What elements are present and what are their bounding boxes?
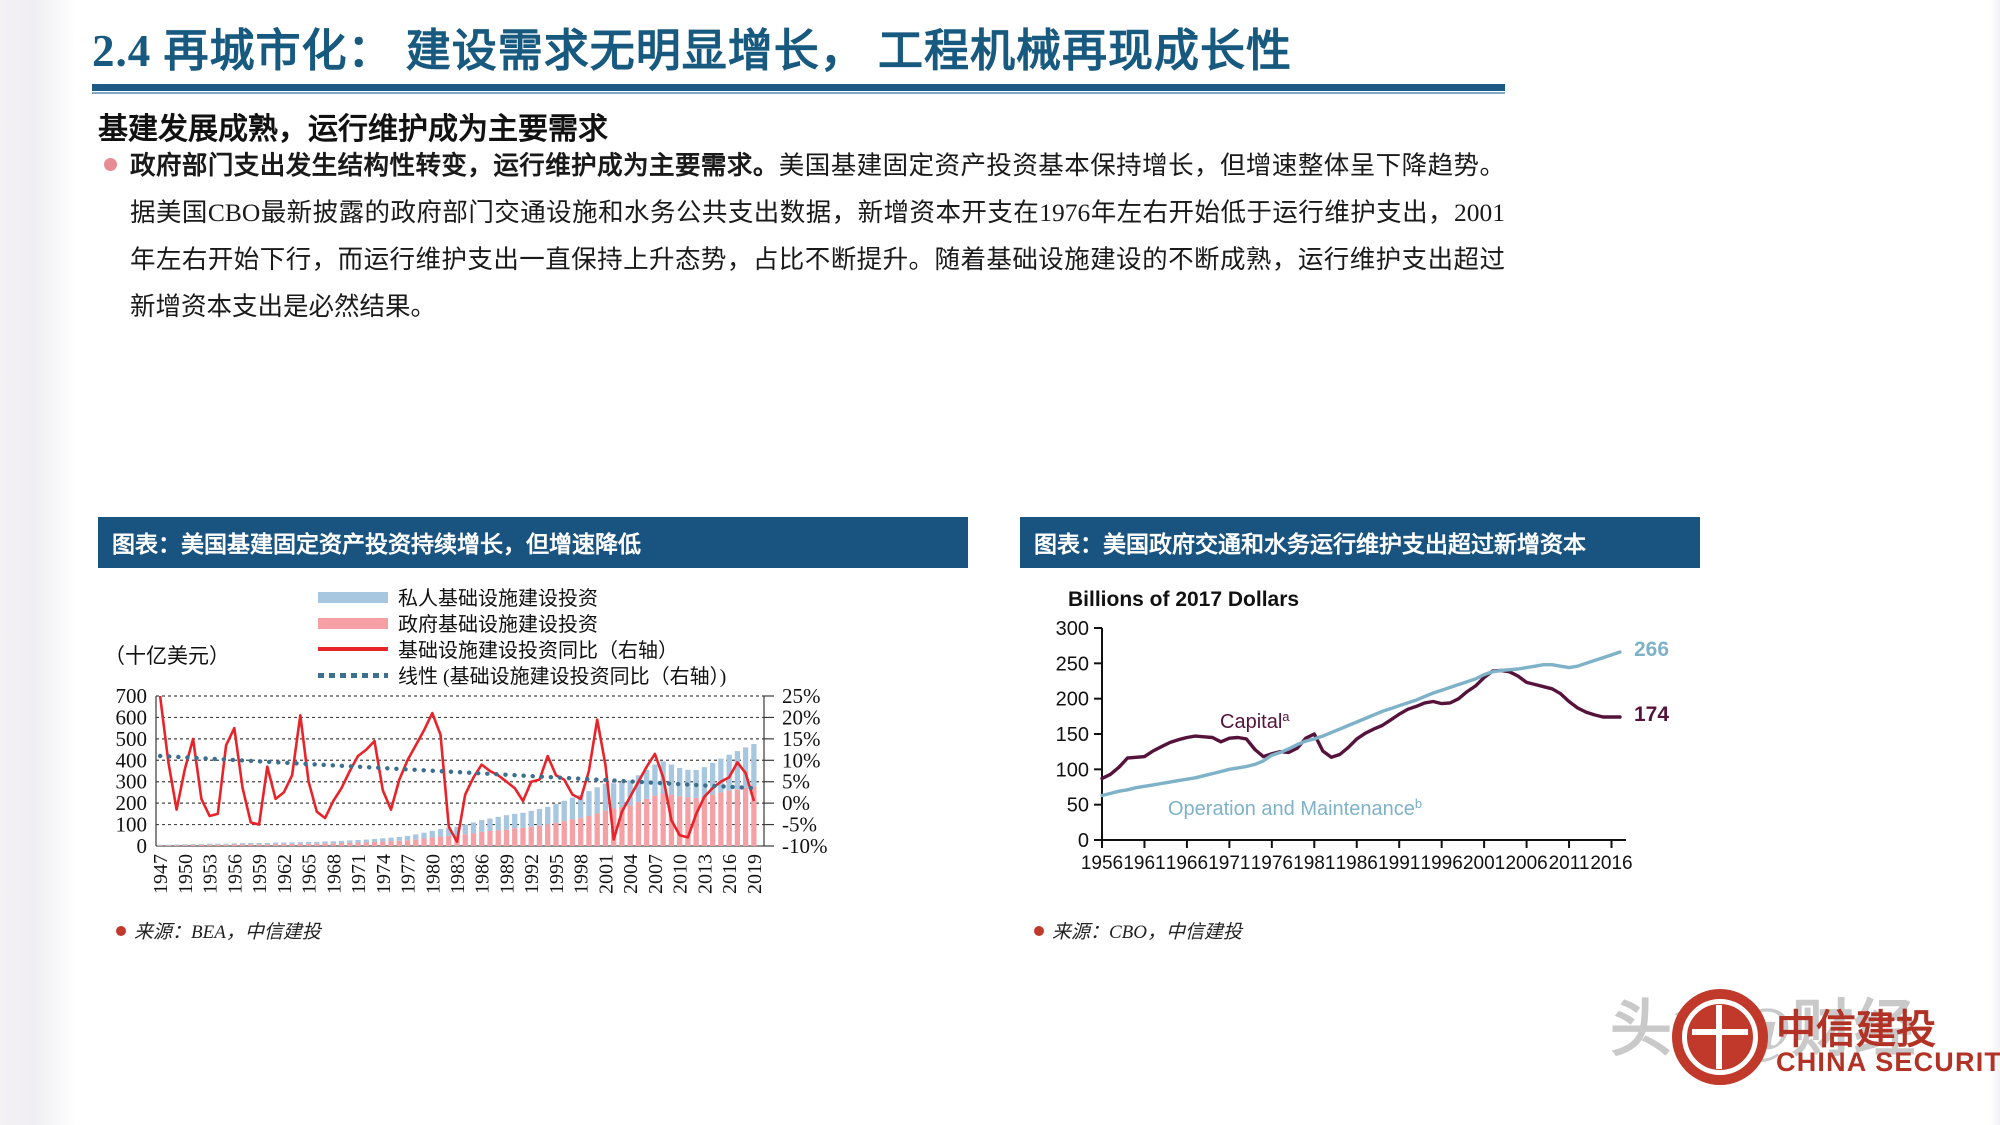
svg-text:2006: 2006 xyxy=(1505,853,1547,874)
svg-text:1977: 1977 xyxy=(398,854,420,894)
svg-text:2016: 2016 xyxy=(719,854,741,894)
svg-text:1991: 1991 xyxy=(1378,853,1420,874)
brand-logo: 中信建投 CHINA SECURITIES xyxy=(1672,985,1992,1105)
svg-text:1983: 1983 xyxy=(447,854,469,894)
right-chart-source: 来源：CBO，中信建投 xyxy=(1034,917,1242,944)
svg-text:1971: 1971 xyxy=(1208,853,1250,874)
body-paragraph: 政府部门支出发生结构性转变，运行维护成为主要需求。美国基建固定资产投资基本保持增… xyxy=(130,142,1505,330)
svg-text:400: 400 xyxy=(116,748,148,772)
svg-text:150: 150 xyxy=(1056,724,1089,746)
svg-text:1961: 1961 xyxy=(1123,853,1165,874)
svg-text:266: 266 xyxy=(1634,638,1669,661)
svg-text:1986: 1986 xyxy=(472,854,494,894)
svg-text:2001: 2001 xyxy=(595,854,617,894)
svg-text:300: 300 xyxy=(1056,618,1089,640)
svg-text:1992: 1992 xyxy=(521,854,543,894)
title-underline xyxy=(92,84,1505,91)
svg-text:15%: 15% xyxy=(782,727,821,751)
svg-text:2016: 2016 xyxy=(1590,853,1632,874)
svg-text:-10%: -10% xyxy=(782,834,828,858)
svg-text:1959: 1959 xyxy=(249,854,271,894)
page-right-edge-gradient xyxy=(1990,0,2000,1125)
left-chart-source: 来源：BEA，中信建投 xyxy=(116,917,321,944)
source-bullet-icon xyxy=(1034,926,1044,936)
svg-text:200: 200 xyxy=(116,791,148,815)
svg-text:1956: 1956 xyxy=(224,854,246,894)
svg-text:Capitala: Capitala xyxy=(1220,709,1290,734)
svg-text:1971: 1971 xyxy=(348,854,370,894)
svg-text:0%: 0% xyxy=(782,791,810,815)
svg-text:300: 300 xyxy=(116,770,148,794)
page-title: 2.4 再城市化： 建设需求无明显增长， 工程机械再现成长性 xyxy=(92,14,1512,76)
svg-text:1980: 1980 xyxy=(422,854,444,894)
left-chart-panel: 图表：美国基建固定资产投资持续增长，但增速降低 （十亿美元） 私人基础设施建设投… xyxy=(98,517,968,898)
svg-text:1998: 1998 xyxy=(571,854,593,894)
logo-english-name: CHINA SECURITIES xyxy=(1776,1047,2000,1078)
paragraph-bold-lead: 政府部门支出发生结构性转变，运行维护成为主要需求。 xyxy=(130,151,779,180)
svg-text:174: 174 xyxy=(1634,703,1669,726)
svg-text:2013: 2013 xyxy=(694,854,716,894)
svg-text:2010: 2010 xyxy=(670,854,692,894)
logo-vertical-bar-icon xyxy=(1716,1005,1722,1069)
svg-text:1989: 1989 xyxy=(497,854,519,894)
left-chart-svg: 0100200300400500600700-10%-5%0%5%10%15%2… xyxy=(98,568,968,898)
svg-text:2001: 2001 xyxy=(1463,853,1505,874)
svg-text:1956: 1956 xyxy=(1081,853,1123,874)
svg-text:1995: 1995 xyxy=(546,854,568,894)
svg-text:20%: 20% xyxy=(782,705,821,729)
page-left-edge-gradient xyxy=(0,0,76,1125)
svg-text:1981: 1981 xyxy=(1293,853,1335,874)
right-chart-header: 图表：美国政府交通和水务运行维护支出超过新增资本 xyxy=(1020,517,1700,568)
svg-text:1968: 1968 xyxy=(323,854,345,894)
svg-text:1953: 1953 xyxy=(200,854,222,894)
svg-text:200: 200 xyxy=(1056,689,1089,711)
svg-text:10%: 10% xyxy=(782,748,821,772)
svg-text:700: 700 xyxy=(116,684,148,708)
svg-text:100: 100 xyxy=(1056,759,1089,781)
title-underline-thin xyxy=(92,92,1505,94)
svg-text:1950: 1950 xyxy=(175,854,197,894)
svg-text:-5%: -5% xyxy=(782,813,817,837)
svg-text:250: 250 xyxy=(1056,653,1089,675)
svg-text:1962: 1962 xyxy=(274,854,296,894)
svg-text:1966: 1966 xyxy=(1166,853,1208,874)
bullet-point-marker xyxy=(104,158,117,171)
right-chart-body: Billions of 2017 Dollars 050100150200250… xyxy=(1020,568,1700,898)
svg-text:25%: 25% xyxy=(782,684,821,708)
svg-text:2004: 2004 xyxy=(620,854,642,894)
left-chart-body: （十亿美元） 私人基础设施建设投资 政府基础设施建设投资 基础设施建设投资同比（… xyxy=(98,568,968,898)
left-chart-source-text: 来源：BEA，中信建投 xyxy=(134,922,321,943)
svg-text:2019: 2019 xyxy=(744,854,766,894)
svg-text:2007: 2007 xyxy=(645,854,667,894)
svg-text:600: 600 xyxy=(116,705,148,729)
right-chart-source-text: 来源：CBO，中信建投 xyxy=(1052,922,1242,943)
svg-text:1976: 1976 xyxy=(1251,853,1293,874)
svg-text:50: 50 xyxy=(1067,795,1089,817)
source-bullet-icon xyxy=(116,926,126,936)
svg-text:1947: 1947 xyxy=(150,854,172,894)
svg-text:100: 100 xyxy=(116,813,148,837)
svg-text:2011: 2011 xyxy=(1549,853,1590,874)
left-chart-header: 图表：美国基建固定资产投资持续增长，但增速降低 xyxy=(98,517,968,568)
right-chart-panel: 图表：美国政府交通和水务运行维护支出超过新增资本 Billions of 201… xyxy=(1020,517,1700,898)
svg-text:Operation and Maintenanceb: Operation and Maintenanceb xyxy=(1168,796,1422,821)
svg-text:1974: 1974 xyxy=(373,854,395,894)
svg-text:1996: 1996 xyxy=(1421,853,1463,874)
svg-text:5%: 5% xyxy=(782,770,810,794)
right-chart-svg: 0501001502002503001956196119661971197619… xyxy=(1020,568,1700,898)
svg-text:0: 0 xyxy=(1078,830,1089,852)
svg-text:1965: 1965 xyxy=(299,854,321,894)
svg-text:500: 500 xyxy=(116,727,148,751)
svg-text:0: 0 xyxy=(137,834,148,858)
logo-horizontal-bar-icon xyxy=(1692,1029,1748,1035)
svg-text:1986: 1986 xyxy=(1336,853,1378,874)
